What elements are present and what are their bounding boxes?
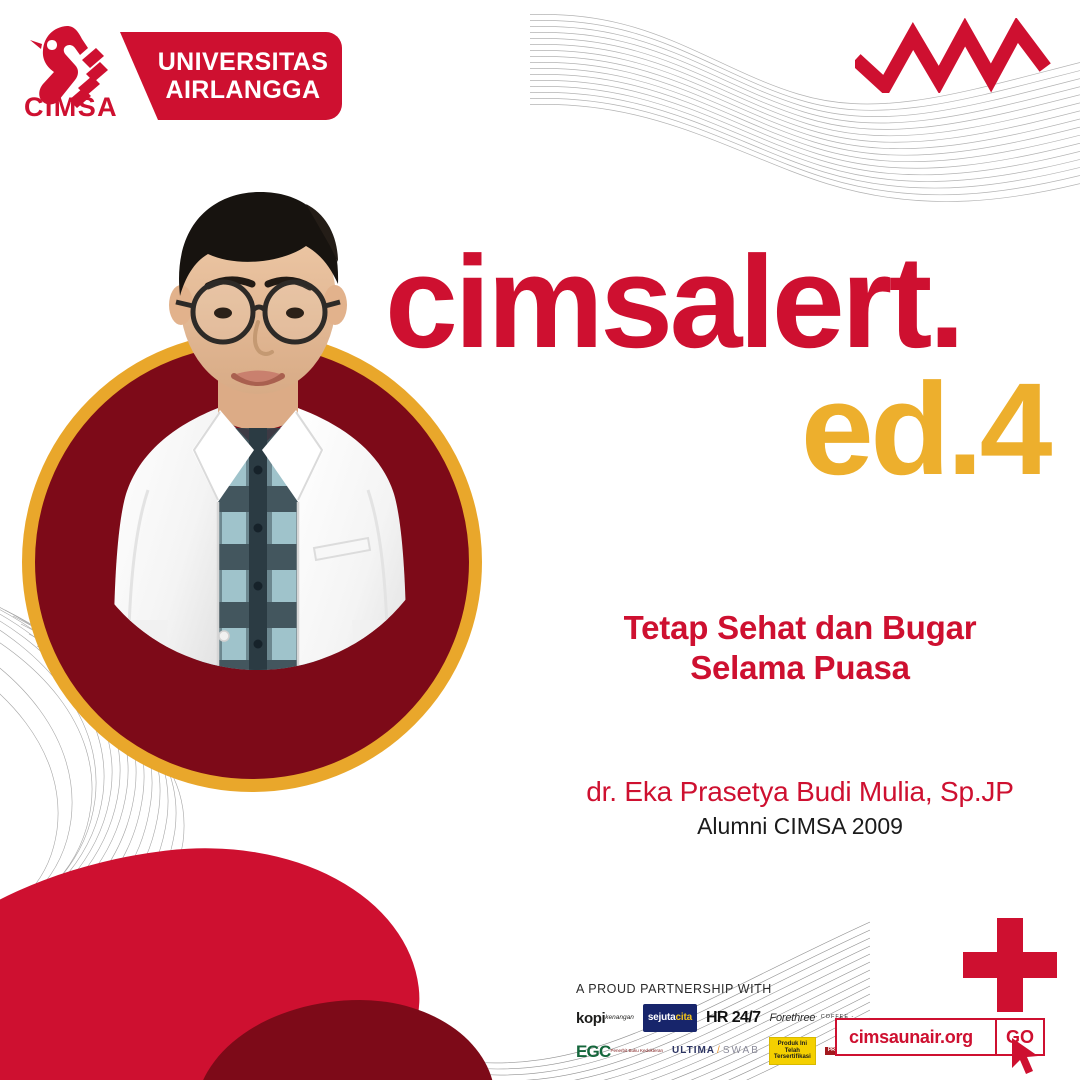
speaker-affiliation: Alumni CIMSA 2009 <box>545 813 1055 841</box>
partner-logo-kopi-kenangan: kopi kenangan <box>576 1004 634 1032</box>
partner-logo-sejutacita: sejutacita <box>643 1004 697 1032</box>
university-name: UNIVERSITAS AIRLANGGA <box>124 48 329 104</box>
topic-title: Tetap Sehat dan Bugar Selama Puasa <box>545 608 1055 689</box>
speaker-block: dr. Eka Prasetya Budi Mulia, Sp.JP Alumn… <box>545 775 1055 840</box>
university-badge: UNIVERSITAS AIRLANGGA <box>110 32 342 120</box>
speaker-name: dr. Eka Prasetya Budi Mulia, Sp.JP <box>545 775 1055 809</box>
slash-divider: / <box>715 1046 723 1056</box>
partners-label: A PROUD PARTNERSHIP WITH <box>576 982 806 996</box>
edition-label: ed.4 <box>385 365 1065 492</box>
partner-ultima-name: ULTIMA <box>672 1046 715 1056</box>
headline: cimsalert. ed.4 <box>385 240 1065 492</box>
partner-logo-row-2: EGC Penerbit Buku Kedokteran ULTIMA/SWAB… <box>576 1037 806 1065</box>
decorative-blob-red <box>0 822 437 1080</box>
partner-logo-egc: EGC Penerbit Buku Kedokteran <box>576 1037 663 1065</box>
url-input[interactable]: cimsaunair.org <box>837 1020 995 1054</box>
partner-kopi-name: kopi <box>576 1011 605 1026</box>
cimsa-wordmark: CIMSA <box>22 94 120 121</box>
poster-canvas: CIMSA UNIVERSITAS AIRLANGGA <box>0 0 1080 1080</box>
cross-bar-vertical <box>997 918 1023 1012</box>
partner-logo-yellow-badge: Produk Ini Telah Tersertifikasi <box>769 1037 816 1065</box>
partner-logo-row-1: kopi kenangan sejutacita HR 24/7 Forethr… <box>576 1004 806 1032</box>
partner-kopi-tagline: kenangan <box>605 1015 634 1022</box>
brand-lockup: CIMSA UNIVERSITAS AIRLANGGA <box>14 16 344 124</box>
partners-block: A PROUD PARTNERSHIP WITH kopi kenangan s… <box>576 982 806 1070</box>
partner-sejuta-name: sejuta <box>648 1013 676 1023</box>
partner-fore-name: Forethree <box>769 1013 815 1024</box>
heartbeat-zigzag-icon <box>855 18 1065 93</box>
partner-egc-tagline: Penerbit Buku Kedokteran <box>610 1049 663 1054</box>
medical-cross-icon <box>963 918 1057 1012</box>
topic-block: Tetap Sehat dan Bugar Selama Puasa <box>545 608 1055 689</box>
cursor-arrow-icon <box>1008 1036 1044 1076</box>
partner-sejuta-highlight: cita <box>676 1013 692 1023</box>
partner-logo-ultima-swab: ULTIMA/SWAB <box>672 1037 760 1065</box>
decorative-blob-maroon <box>195 1000 495 1080</box>
page-title: cimsalert. <box>385 240 1065 363</box>
partner-egc-name: EGC <box>576 1043 610 1060</box>
partner-swab-name: SWAB <box>723 1046 760 1056</box>
partner-logo-hr247: HR 24/7 <box>706 1004 761 1032</box>
